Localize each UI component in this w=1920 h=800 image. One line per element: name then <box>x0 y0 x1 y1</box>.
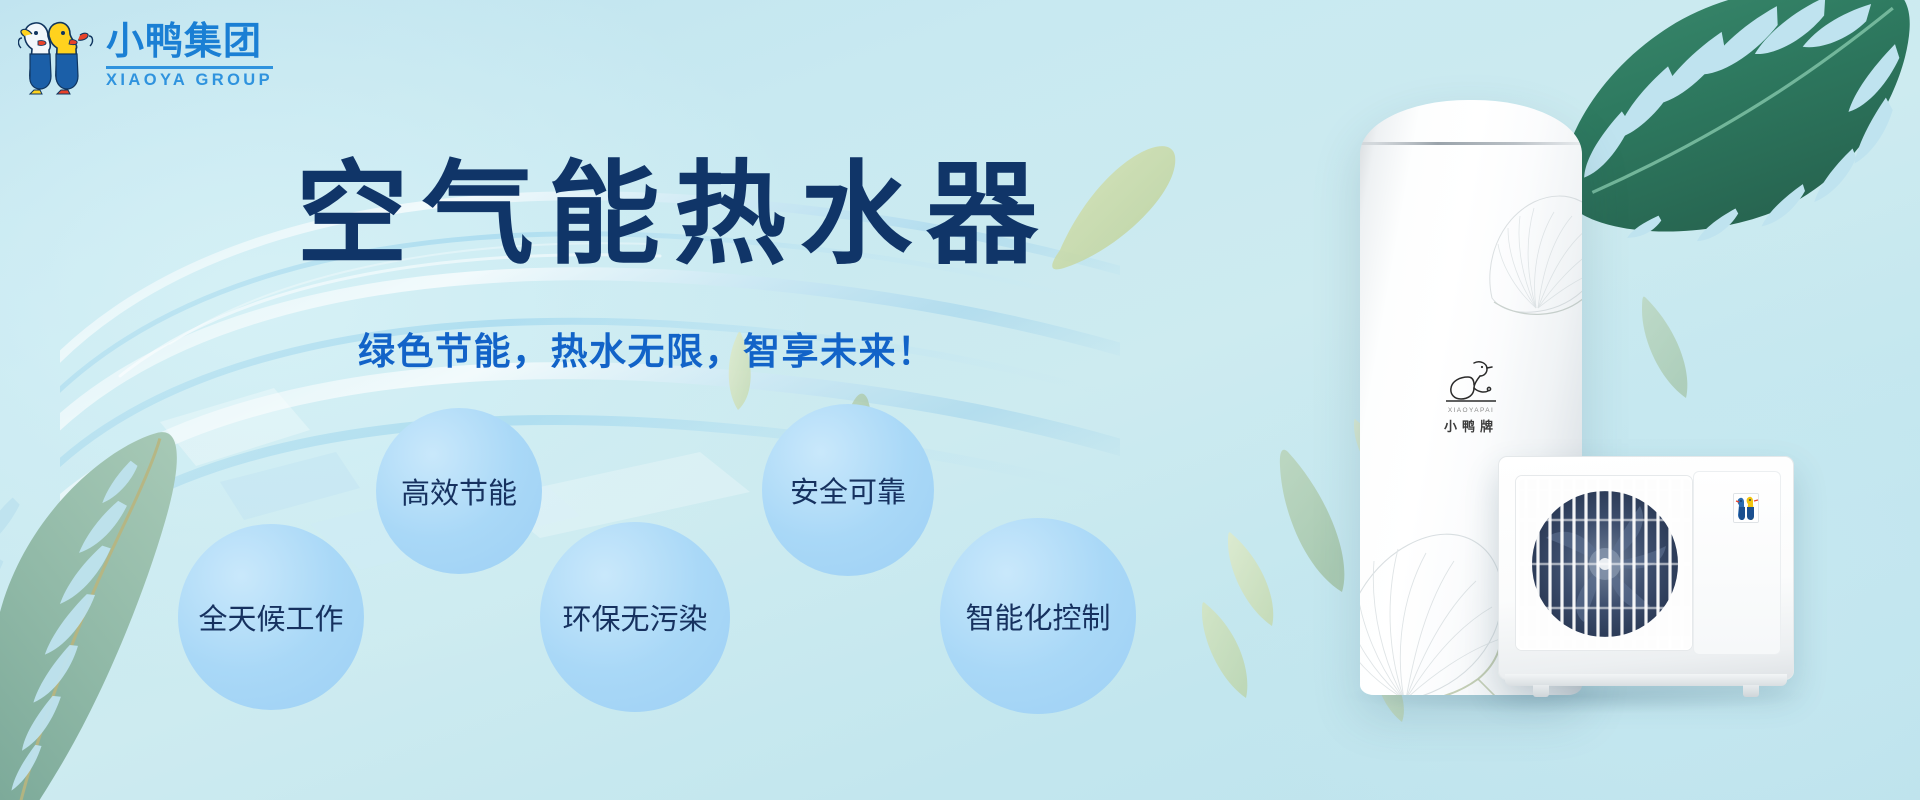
feature-bubble-group: 高效节能 安全可靠 全天候工作 环保无污染 智能化控制 <box>0 0 1180 800</box>
feature-bubble-label: 环保无污染 <box>562 596 707 638</box>
feature-bubble-efficiency[interactable]: 高效节能 <box>376 408 542 574</box>
feature-bubble-eco[interactable]: 环保无污染 <box>540 522 730 712</box>
tank-brand-en: XIAOYAPAI <box>1448 407 1494 414</box>
tank-seam <box>1360 142 1582 145</box>
feature-bubble-smart[interactable]: 智能化控制 <box>940 518 1136 714</box>
outdoor-unit <box>1498 456 1794 680</box>
feature-bubble-safety[interactable]: 安全可靠 <box>762 404 934 576</box>
feature-bubble-label: 智能化控制 <box>965 595 1110 637</box>
tank-brand-plate: XIAOYAPAI 小鸭牌 <box>1360 355 1582 435</box>
product-banner: 小鸭集团 XIAOYA GROUP 空气能热水器 绿色节能，热水无限，智享未来！… <box>0 0 1920 800</box>
twin-duck-mascot-icon <box>1733 493 1759 523</box>
feature-bubble-label: 安全可靠 <box>790 469 906 511</box>
tank-floral-pattern-icon <box>1360 509 1504 695</box>
outdoor-unit-foot <box>1533 685 1549 697</box>
feature-bubble-allweather[interactable]: 全天候工作 <box>178 524 364 710</box>
outdoor-unit-foot <box>1743 685 1759 697</box>
feature-bubble-label: 全天候工作 <box>198 596 343 638</box>
duck-outline-icon <box>1444 355 1498 405</box>
feature-bubble-label: 高效节能 <box>401 470 517 512</box>
fan-grille-icon <box>1515 475 1693 651</box>
tank-floral-pattern-icon <box>1476 178 1582 328</box>
tank-brand-cn: 小鸭牌 <box>1444 416 1498 435</box>
product-image-group: XIAOYAPAI 小鸭牌 <box>1310 60 1920 800</box>
